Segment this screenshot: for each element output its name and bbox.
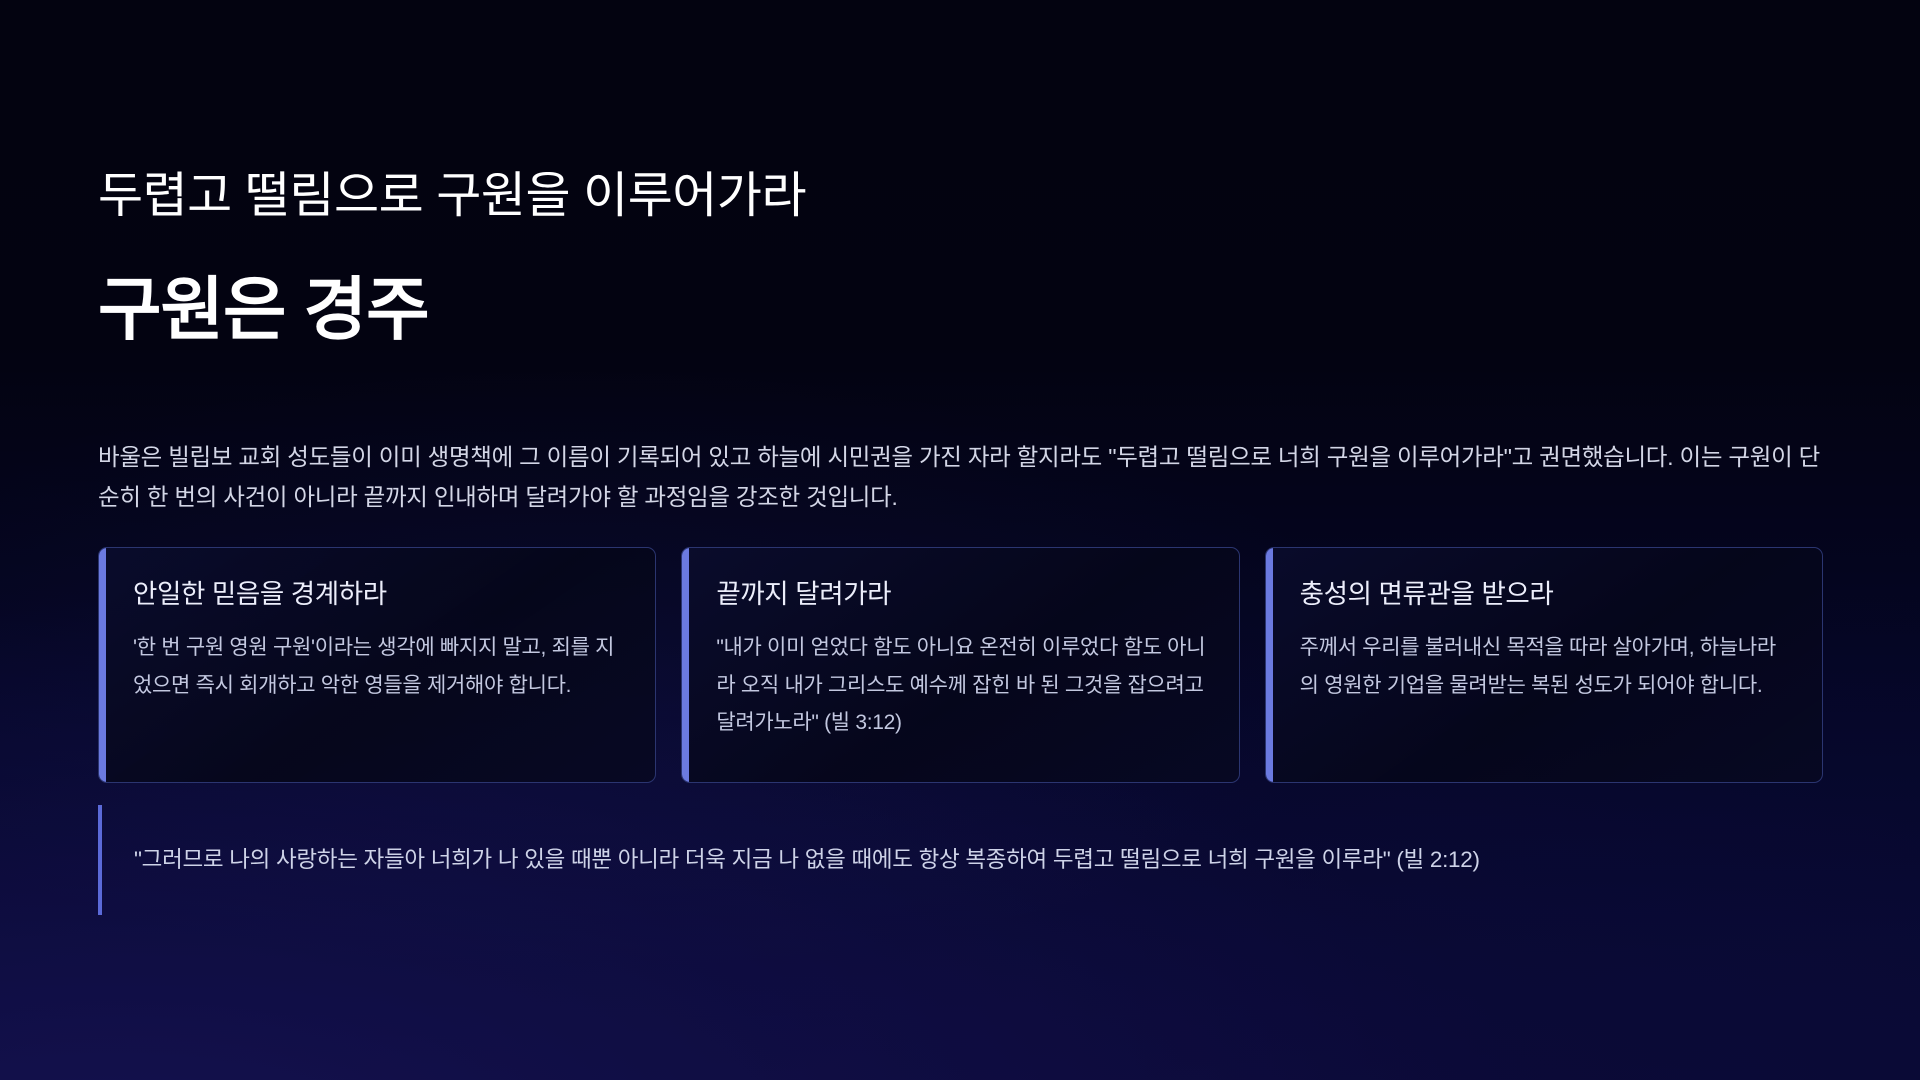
point-card-title: 안일한 믿음을 경계하라 [133,578,627,611]
scripture-quote-block: "그러므로 나의 사랑하는 자들아 너희가 나 있을 때뿐 아니라 더욱 지금 … [98,805,1828,915]
slide-lead-paragraph: 바울은 빌립보 교회 성도들이 이미 생명책에 그 이름이 기록되어 있고 하늘… [98,437,1828,518]
point-card-body: 주께서 우리를 불러내신 목적을 따라 살아가며, 하늘나라의 영원한 기업을 … [1300,629,1794,704]
point-card-2: 끝까지 달려가라 "내가 이미 얻었다 함도 아니요 온전히 이루었다 함도 아… [681,547,1239,783]
card-accent-bar-icon [99,548,106,782]
quote-accent-bar-icon [98,805,102,915]
slide-headline: 두렵고 떨림으로 구원을 이루어가라 [98,168,806,224]
card-accent-bar-icon [682,548,689,782]
point-card-title: 충성의 면류관을 받으라 [1300,578,1794,611]
point-card-title: 끝까지 달려가라 [716,578,1210,611]
presentation-slide: 두렵고 떨림으로 구원을 이루어가라 구원은 경주 바울은 빌립보 교회 성도들… [0,0,1920,1080]
point-card-1: 안일한 믿음을 경계하라 '한 번 구원 영원 구원'이라는 생각에 빠지지 말… [98,547,656,783]
point-card-body: "내가 이미 얻었다 함도 아니요 온전히 이루었다 함도 아니라 오직 내가 … [716,629,1210,741]
point-card-row: 안일한 믿음을 경계하라 '한 번 구원 영원 구원'이라는 생각에 빠지지 말… [98,547,1823,783]
scripture-quote-text: "그러므로 나의 사랑하는 자들아 너희가 나 있을 때뿐 아니라 더욱 지금 … [134,841,1480,879]
slide-subheading: 구원은 경주 [98,272,429,348]
point-card-3: 충성의 면류관을 받으라 주께서 우리를 불러내신 목적을 따라 살아가며, 하… [1265,547,1823,783]
card-accent-bar-icon [1266,548,1273,782]
point-card-body: '한 번 구원 영원 구원'이라는 생각에 빠지지 말고, 죄를 지었으면 즉시… [133,629,627,704]
